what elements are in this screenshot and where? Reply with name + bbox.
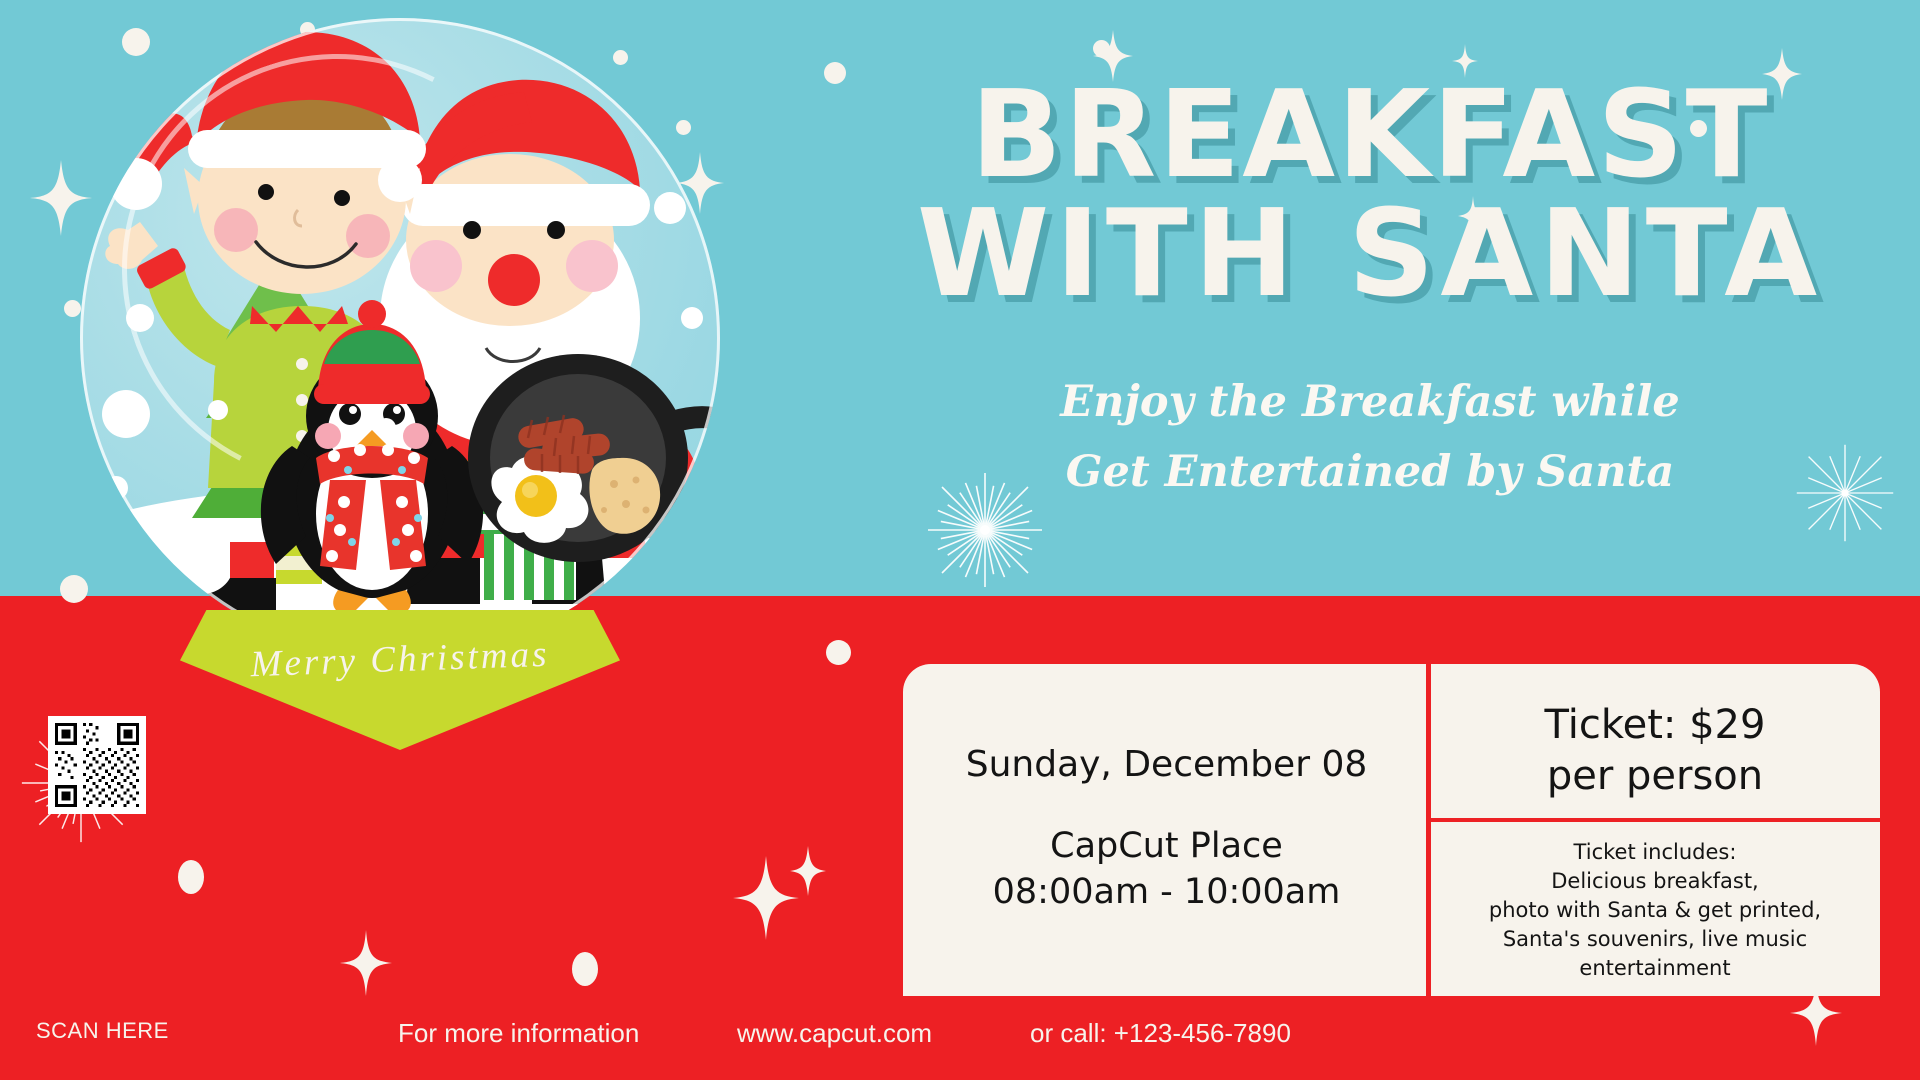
event-venue: CapCut Place	[1050, 826, 1283, 866]
subtitle-line-2: Get Entertained by Santa	[860, 438, 1880, 508]
poster-canvas: Merry Christmas BREAKFAST WITH SANTA Enj…	[0, 0, 1920, 1080]
website-link[interactable]: www.capcut.com	[737, 1018, 932, 1049]
ticket-price-amount: Ticket: $29	[1430, 700, 1880, 751]
ticket-price-unit: per person	[1430, 751, 1880, 802]
phone-number[interactable]: or call: +123-456-7890	[1030, 1018, 1291, 1049]
confetti-dot	[572, 952, 598, 986]
ticket-includes-item: photo with Santa & get printed,	[1430, 896, 1880, 925]
ticket-includes-item: Delicious breakfast,	[1430, 867, 1880, 896]
ticket-includes-item: entertainment	[1430, 954, 1880, 983]
ticket-includes-item: Santa's souvenirs, live music	[1430, 925, 1880, 954]
sparkle-icon	[340, 930, 392, 996]
sparkle-icon	[790, 846, 826, 896]
headline-line-2: WITH SANTA	[860, 197, 1880, 312]
page-title: BREAKFAST WITH SANTA	[860, 78, 1880, 312]
ticket-price: Ticket: $29 per person	[1430, 700, 1880, 802]
qr-code-icon[interactable]	[48, 716, 146, 814]
subtitle-line-1: Enjoy the Breakfast while	[860, 368, 1880, 438]
confetti-dot	[824, 62, 846, 84]
snow-globe-illustration: Merry Christmas	[60, 10, 740, 770]
more-information-label: For more information	[398, 1018, 639, 1049]
event-schedule: Sunday, December 08 CapCut Place 08:00am…	[903, 744, 1430, 915]
ticket-includes-title: Ticket includes:	[1430, 838, 1880, 867]
event-time: 08:00am - 10:00am	[993, 872, 1341, 912]
subtitle: Enjoy the Breakfast while Get Entertaine…	[860, 368, 1880, 507]
confetti-dot	[826, 640, 851, 665]
confetti-dot	[178, 860, 204, 894]
ticket-includes: Ticket includes: Delicious breakfast, ph…	[1430, 838, 1880, 983]
event-date: Sunday, December 08	[903, 744, 1430, 785]
scan-here-label: SCAN HERE	[36, 1018, 169, 1044]
panel-divider-horizontal	[1430, 818, 1880, 822]
headline-line-1: BREAKFAST	[860, 78, 1880, 193]
